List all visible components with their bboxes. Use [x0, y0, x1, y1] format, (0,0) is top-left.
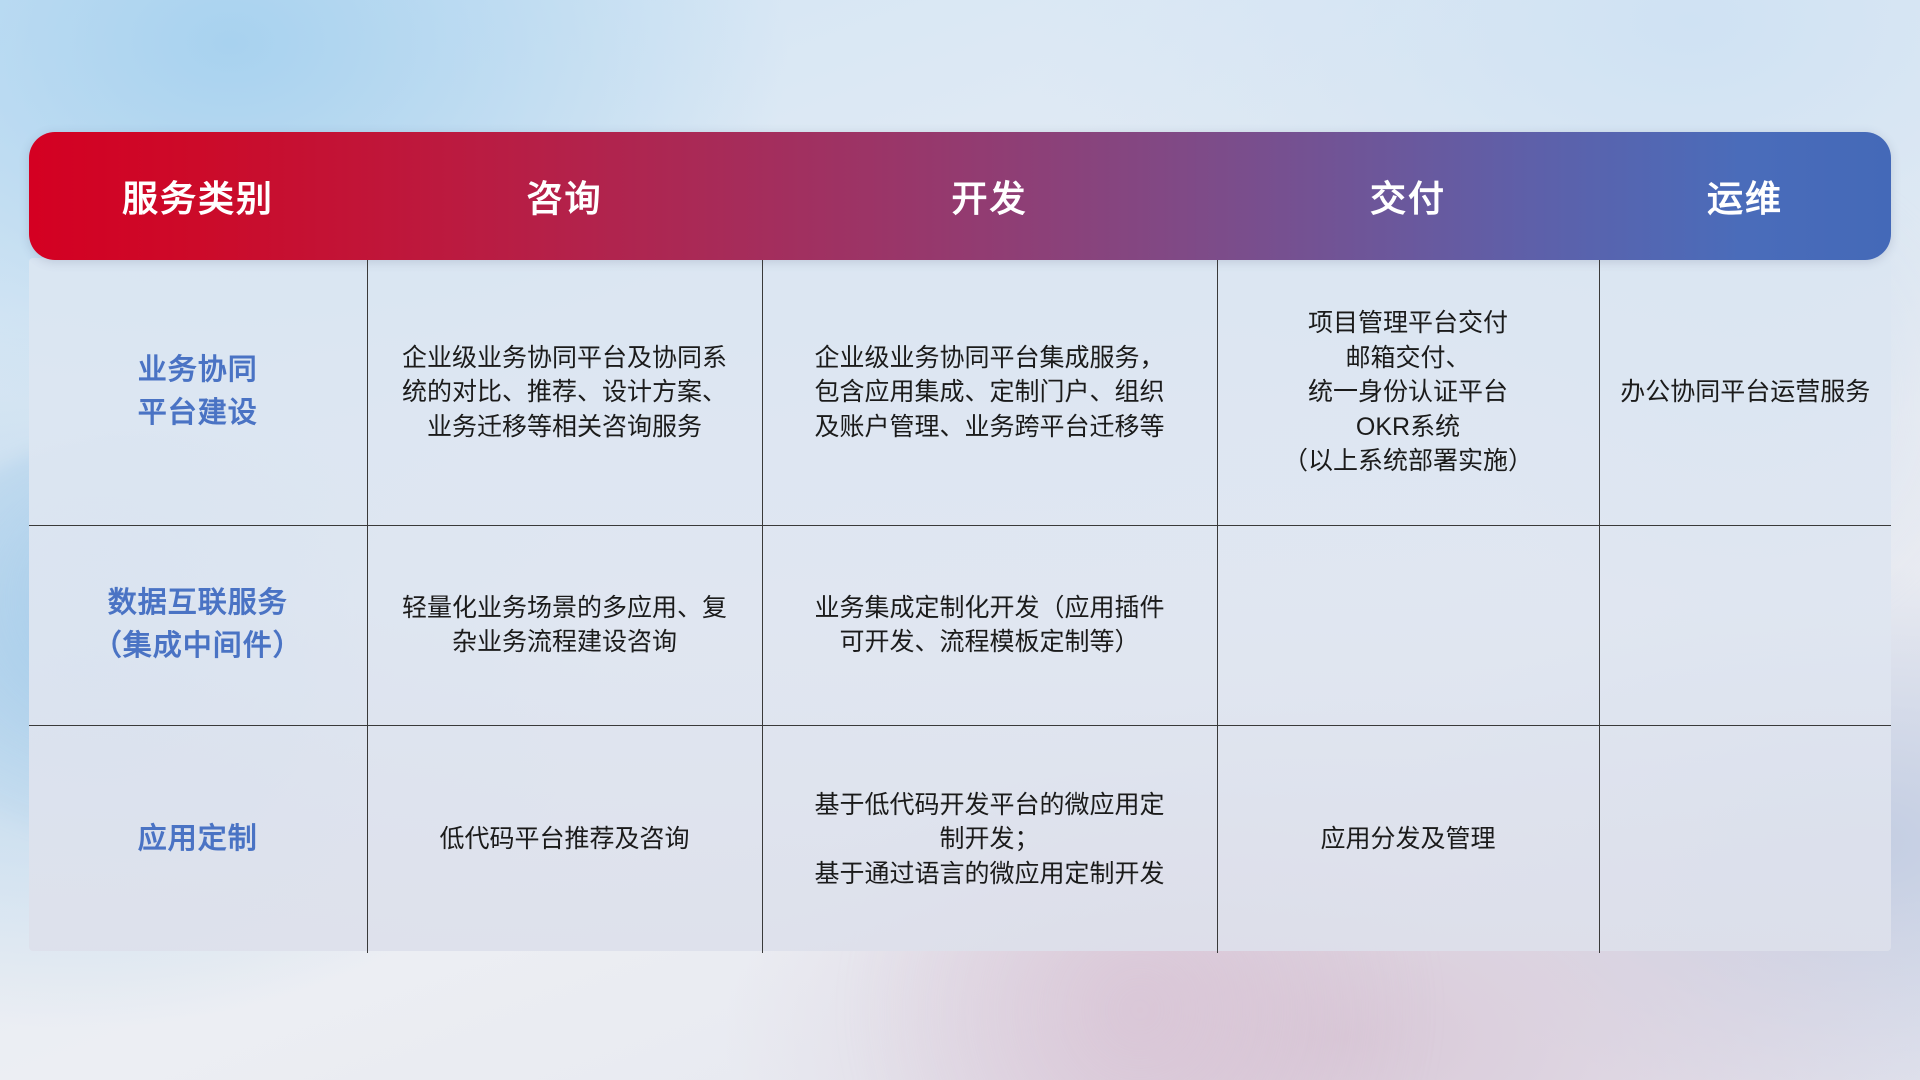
- cell-delivery: 项目管理平台交付 邮箱交付、 统一身份认证平台 OKR系统 （以上系统部署实施）: [1217, 260, 1599, 525]
- cell-consulting: 轻量化业务场景的多应用、复 杂业务流程建设咨询: [367, 525, 762, 725]
- cell-operations: 办公协同平台运营服务: [1599, 260, 1891, 525]
- table-row: 业务协同 平台建设 企业级业务协同平台及协同系 统的对比、推荐、设计方案、 业务…: [29, 260, 1891, 525]
- service-matrix-table: 服务类别 咨询 开发 交付 运维 业务协同 平台建设 企业级业务协同平台及协同系…: [29, 132, 1891, 953]
- cell-consulting: 企业级业务协同平台及协同系 统的对比、推荐、设计方案、 业务迁移等相关咨询服务: [367, 260, 762, 525]
- table-header: 服务类别 咨询 开发 交付 运维: [29, 132, 1891, 260]
- cell-development: 业务集成定制化开发（应用插件 可开发、流程模板定制等）: [762, 525, 1217, 725]
- table-body: 业务协同 平台建设 企业级业务协同平台及协同系 统的对比、推荐、设计方案、 业务…: [29, 260, 1891, 953]
- cell-category: 应用定制: [29, 725, 367, 953]
- column-header-consulting[interactable]: 咨询: [367, 132, 762, 260]
- cell-operations: [1599, 725, 1891, 953]
- cell-development: 基于低代码开发平台的微应用定 制开发； 基于通过语言的微应用定制开发: [762, 725, 1217, 953]
- column-header-operations[interactable]: 运维: [1599, 132, 1891, 260]
- table-row: 数据互联服务 （集成中间件） 轻量化业务场景的多应用、复 杂业务流程建设咨询 业…: [29, 525, 1891, 725]
- cell-category: 数据互联服务 （集成中间件）: [29, 525, 367, 725]
- cell-delivery: [1217, 525, 1599, 725]
- cell-development: 企业级业务协同平台集成服务， 包含应用集成、定制门户、组织 及账户管理、业务跨平…: [762, 260, 1217, 525]
- column-header-delivery[interactable]: 交付: [1217, 132, 1599, 260]
- column-header-category[interactable]: 服务类别: [29, 132, 367, 260]
- column-header-development[interactable]: 开发: [762, 132, 1217, 260]
- table-header-row: 服务类别 咨询 开发 交付 运维: [29, 132, 1891, 260]
- table-row: 应用定制 低代码平台推荐及咨询 基于低代码开发平台的微应用定 制开发； 基于通过…: [29, 725, 1891, 953]
- cell-delivery: 应用分发及管理: [1217, 725, 1599, 953]
- cell-category: 业务协同 平台建设: [29, 260, 367, 525]
- cell-operations: [1599, 525, 1891, 725]
- cell-consulting: 低代码平台推荐及咨询: [367, 725, 762, 953]
